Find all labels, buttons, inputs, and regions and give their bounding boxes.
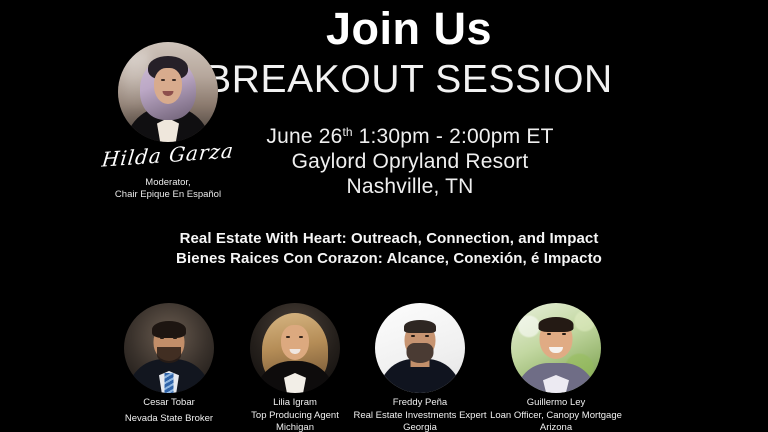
speaker-role: Loan Officer, Canopy Mortgage [481,410,631,423]
portrait-eye-right [172,79,176,81]
moderator-organization: Chair Epique En Español [98,189,238,201]
session-title-english: Real Estate With Heart: Outreach, Connec… [10,229,768,249]
portrait-hair [152,321,186,338]
portrait-tie [165,373,174,393]
event-date: June 26 [266,125,342,148]
speakers-row: Cesar Tobar Nevada State Broker Lilia Ig… [0,303,768,432]
portrait-eye-right [562,333,566,335]
speaker-card: Guillermo Ley Loan Officer, Canopy Mortg… [481,303,631,432]
portrait-eye-right [425,335,429,337]
breakout-session-poster: Join Us BREAKOUT SESSION June 26th 1:30p… [0,0,768,432]
speaker-caption: Freddy Peña Real Estate Investments Expe… [345,397,495,432]
moderator-caption: Moderator, Chair Epique En Español [98,177,238,200]
portrait-face [281,325,309,360]
portrait-eye-left [411,335,415,337]
speaker-portrait-cesar [124,303,214,393]
portrait-eye-left [161,79,165,81]
speaker-location: Arizona [481,422,631,432]
portrait-beard [157,347,181,363]
speaker-portrait-freddy [375,303,465,393]
portrait-hair [539,317,574,332]
portrait-eye-left [547,333,551,335]
speaker-role: Real Estate Investments Expert [345,410,495,423]
portrait-eye-left [286,336,290,338]
portrait-hair [404,320,436,333]
portrait-eye-right [173,337,177,339]
portrait-eye-left [160,337,164,339]
event-date-ordinal: th [343,125,353,139]
speaker-name: Guillermo Ley [481,397,631,410]
moderator-block: Hilda Garza Moderator, Chair Epique En E… [98,42,238,142]
moderator-role: Moderator, [98,177,238,189]
session-title-spanish: Bienes Raices Con Corazon: Alcance, Cone… [10,249,768,269]
moderator-portrait [118,42,218,142]
speaker-portrait-lilia [250,303,340,393]
portrait-beard [407,343,434,363]
speaker-name: Freddy Peña [345,397,495,410]
session-title-block: Real Estate With Heart: Outreach, Connec… [0,229,768,269]
portrait-face [154,68,182,104]
portrait-eye-right [299,336,303,338]
event-time: 1:30pm - 2:00pm ET [353,125,554,148]
speaker-card: Freddy Peña Real Estate Investments Expe… [345,303,495,432]
speaker-portrait-guillermo [511,303,601,393]
speaker-location: Georgia [345,422,495,432]
speaker-caption: Guillermo Ley Loan Officer, Canopy Mortg… [481,397,631,432]
